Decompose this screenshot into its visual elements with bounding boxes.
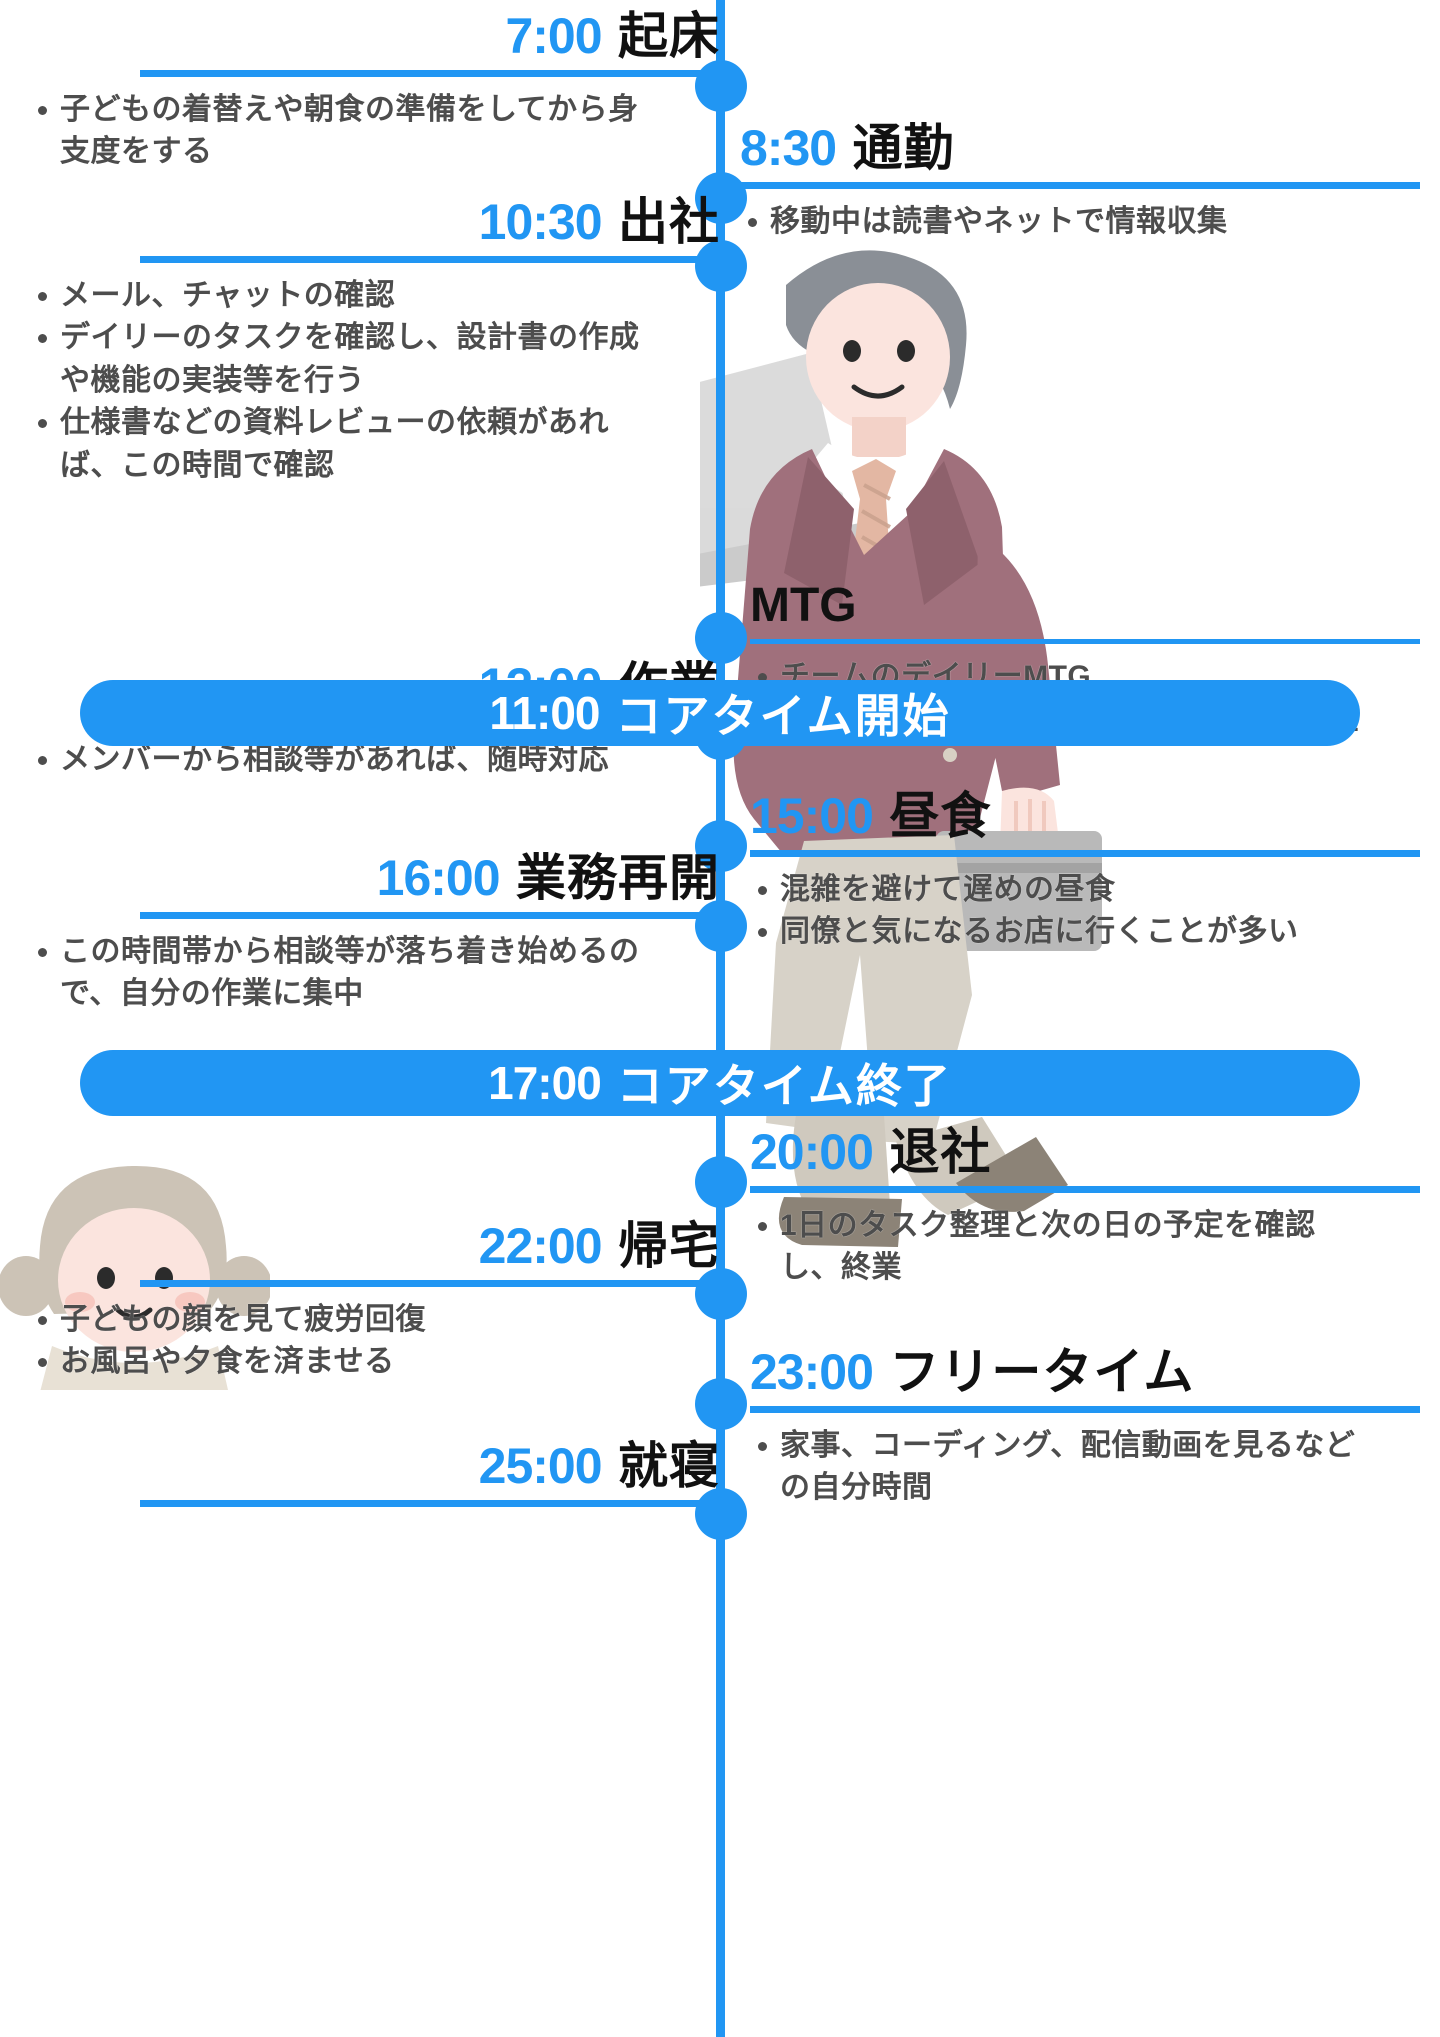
entry-heading: 25:00 就寝 [30, 1440, 720, 1493]
entry-bullets: 1日のタスク整理と次の日の予定を確認し、終業 [750, 1205, 1360, 1290]
timeline-entry-bedtime: 25:00 就寝 [30, 1440, 720, 1507]
entry-bullets: メール、チャットの確認 デイリーのタスクを確認し、設計書の作成や機能の実装等を行… [30, 275, 650, 488]
list-item: 同僚と気になるお店に行くことが多い [750, 911, 1420, 954]
entry-label: 昼食 [889, 788, 991, 844]
entry-time: 7:00 [505, 8, 601, 64]
banner-time: 17:00 [488, 1056, 601, 1110]
list-item: この時間帯から相談等が落ち着き始めるので、自分の作業に集中 [30, 931, 650, 1016]
entry-time: 10:30 [479, 194, 602, 250]
entry-time: 22:00 [479, 1218, 602, 1274]
timeline-entry-go-home: 22:00 帰宅 子どもの顔を見て疲労回復 お風呂や夕食を済ませる [30, 1220, 720, 1384]
entry-time: 20:00 [750, 1124, 873, 1180]
timeline-entry-arrive-office: 10:30 出社 メール、チャットの確認 デイリーのタスクを確認し、設計書の作成… [30, 196, 720, 487]
entry-heading: 15:00 昼食 [750, 790, 1420, 843]
entry-label: 出社 [618, 194, 720, 250]
banner-label: コアタイム終了 [617, 1050, 952, 1116]
timeline-entry-wakeup: 7:00 起床 子どもの着替えや朝食の準備をしてから身支度をする [30, 10, 720, 174]
entry-label: 退社 [889, 1124, 991, 1180]
entry-rule [750, 850, 1420, 857]
entry-label: フリータイム [889, 1344, 1194, 1400]
entry-bullets: 混雑を避けて遅めの昼食 同僚と気になるお店に行くことが多い [750, 869, 1420, 954]
list-item: 1日のタスク整理と次の日の予定を確認し、終業 [750, 1205, 1360, 1290]
banner-time: 11:00 [489, 686, 599, 740]
entry-label: MTG [750, 578, 1420, 633]
timeline-node-leave [695, 1156, 747, 1208]
entry-bullets: 子どもの顔を見て疲労回復 お風呂や夕食を済ませる [30, 1299, 650, 1384]
entry-heading: 20:00 退社 [750, 1126, 1420, 1179]
entry-bullets: 家事、コーディング、配信動画を見るなどの自分時間 [750, 1425, 1380, 1510]
list-item: 混雑を避けて遅めの昼食 [750, 869, 1420, 912]
timeline-node-free [695, 1378, 747, 1430]
list-item: 子どもの着替えや朝食の準備をしてから身支度をする [30, 89, 640, 174]
entry-rule [140, 256, 720, 263]
entry-heading: 22:00 帰宅 [30, 1220, 720, 1273]
entry-time: 25:00 [479, 1438, 602, 1494]
list-item: 仕様書などの資料レビューの依頼があれば、この時間で確認 [30, 402, 650, 487]
entry-label: 通勤 [853, 120, 955, 176]
entry-label: 帰宅 [618, 1218, 720, 1274]
entry-heading: 7:00 起床 [30, 10, 720, 63]
list-item: 移動中は読書やネットで情報収集 [740, 201, 1420, 244]
entry-label: 就寝 [618, 1438, 720, 1494]
entry-rule [750, 1186, 1420, 1193]
banner-label: コアタイム開始 [616, 680, 951, 746]
entry-bullets: 移動中は読書やネットで情報収集 [740, 201, 1420, 244]
entry-heading: 8:30 通勤 [740, 122, 1420, 175]
list-item: お風呂や夕食を済ませる [30, 1341, 650, 1384]
entry-time: 16:00 [377, 850, 500, 906]
timeline-entry-leave-office: 20:00 退社 1日のタスク整理と次の日の予定を確認し、終業 [750, 1126, 1420, 1290]
entry-time: 8:30 [740, 120, 836, 176]
entry-bullets: この時間帯から相談等が落ち着き始めるので、自分の作業に集中 [30, 931, 650, 1016]
entry-time: 15:00 [750, 788, 873, 844]
timeline-entry-resume-work: 16:00 業務再開 この時間帯から相談等が落ち着き始めるので、自分の作業に集中 [30, 852, 720, 1016]
entry-bullets: 子どもの着替えや朝食の準備をしてから身支度をする [30, 89, 640, 174]
entry-rule [740, 182, 1420, 189]
timeline-entry-commute: 8:30 通勤 移動中は読書やネットで情報収集 [740, 122, 1420, 243]
timeline-entry-free-time: 23:00 フリータイム 家事、コーディング、配信動画を見るなどの自分時間 [750, 1346, 1420, 1510]
entry-rule [140, 70, 720, 77]
list-item: 家事、コーディング、配信動画を見るなどの自分時間 [750, 1425, 1380, 1510]
entry-heading: 10:30 出社 [30, 196, 720, 249]
entry-heading: 16:00 業務再開 [30, 852, 720, 905]
entry-rule [140, 912, 720, 919]
entry-rule [750, 1406, 1420, 1413]
entry-rule [140, 1500, 720, 1507]
entry-heading: 23:00 フリータイム [750, 1346, 1420, 1399]
entry-label: 業務再開 [516, 850, 720, 906]
entry-time: 23:00 [750, 1344, 873, 1400]
core-time-start-banner: 11:00 コアタイム開始 [80, 680, 1360, 746]
timeline-entry-lunch: 15:00 昼食 混雑を避けて遅めの昼食 同僚と気になるお店に行くことが多い [750, 790, 1420, 954]
timeline-node-mtg [695, 612, 747, 664]
entry-rule [140, 1280, 720, 1287]
list-item: メール、チャットの確認 [30, 275, 650, 318]
entry-label: 起床 [618, 8, 720, 64]
entry-rule [750, 639, 1420, 644]
list-item: 子どもの顔を見て疲労回復 [30, 1299, 650, 1342]
infographic-timeline: 7:00 起床 子どもの着替えや朝食の準備をしてから身支度をする 8:30 通勤… [0, 0, 1440, 2037]
core-time-end-banner: 17:00 コアタイム終了 [80, 1050, 1360, 1116]
list-item: デイリーのタスクを確認し、設計書の作成や機能の実装等を行う [30, 317, 650, 402]
